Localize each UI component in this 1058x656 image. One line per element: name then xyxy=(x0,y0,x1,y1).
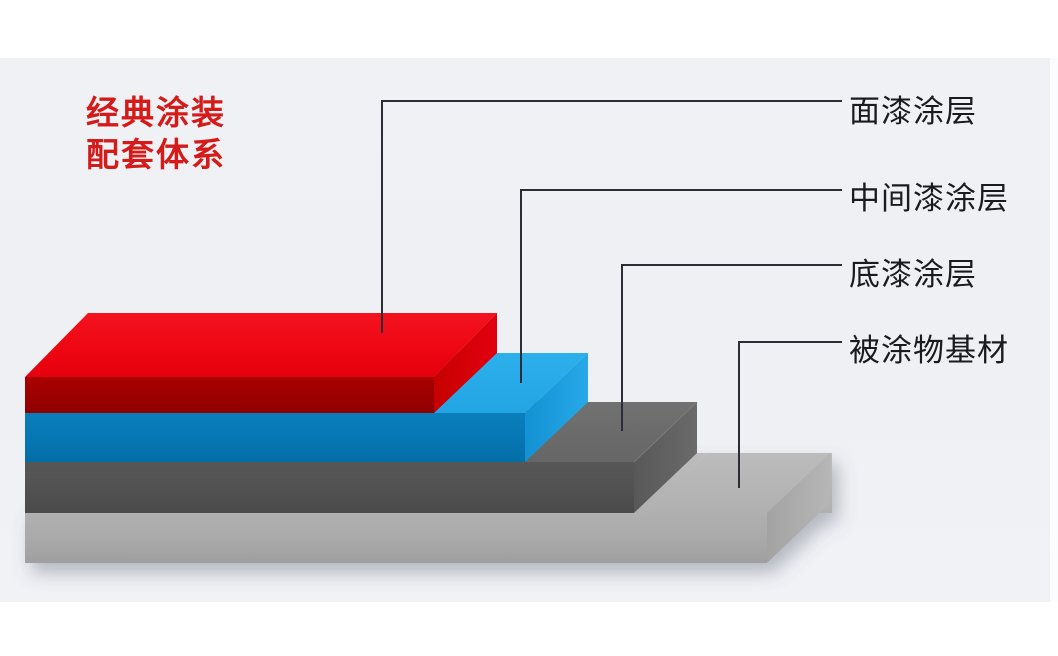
callout-label-substrate: 被涂物基材 xyxy=(849,325,1009,370)
layer-topcoat xyxy=(25,313,497,413)
callout-label-intermediate: 中间漆涂层 xyxy=(849,173,1009,218)
primer-front-face xyxy=(25,462,634,513)
page-title-line-2: 配套体系 xyxy=(86,134,226,176)
topcoat-front-face xyxy=(25,377,434,413)
page-title-line-1: 经典涂装 xyxy=(86,92,226,134)
intermediate-front-face xyxy=(25,413,525,462)
topcoat-top-face xyxy=(25,313,497,377)
substrate-front-face xyxy=(25,513,767,563)
callout-label-primer: 底漆涂层 xyxy=(849,249,977,294)
page-title: 经典涂装 配套体系 xyxy=(86,92,226,176)
leader-line-topcoat xyxy=(382,101,841,332)
diagram-page: 经典涂装 配套体系 面漆涂层 中间漆涂层 底漆涂层 被涂物基材 xyxy=(0,0,1058,656)
callout-label-topcoat: 面漆涂层 xyxy=(849,86,977,131)
